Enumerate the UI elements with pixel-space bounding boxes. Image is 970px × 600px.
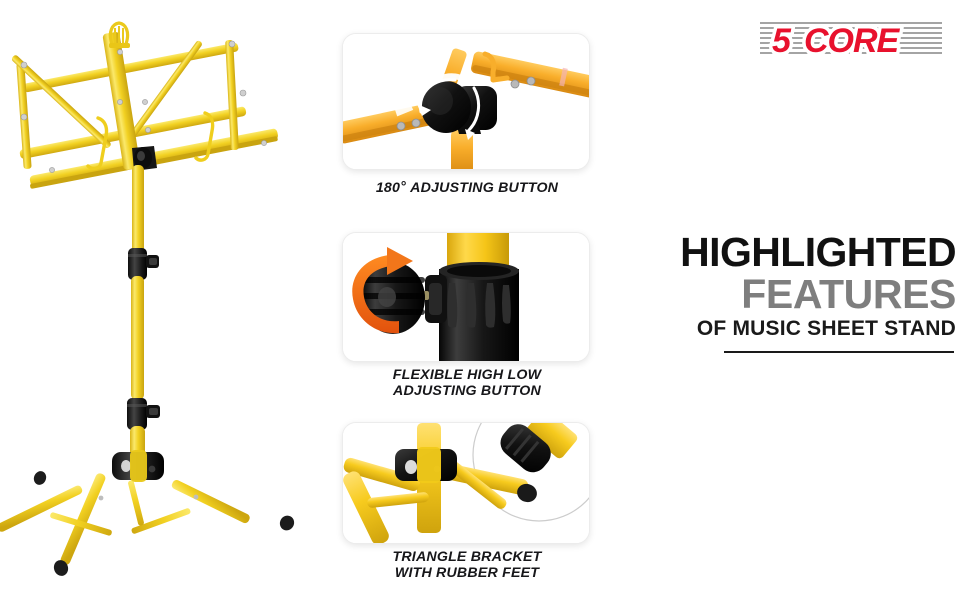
caption-line-2: ADJUSTING BUTTON [336,383,598,399]
logo-word-core: CORE [804,22,901,60]
headline-underline-rule [724,351,954,353]
triangle-bracket-hub [395,447,457,483]
headline-secondary: FEATURES [612,273,956,316]
feature-caption-flexible-high-low: FLEXIBLE HIGH LOW ADJUSTING BUTTON [336,367,598,399]
caption-main-text: ADJUSTING BUTTON [410,180,558,196]
tripod-hub [112,450,164,482]
tripod-leg-right [170,479,296,533]
logo-number-5: 5 [772,22,792,60]
caption-line-1: TRIANGLE BRACKET [336,549,598,565]
black-outer-collar [439,262,519,361]
feature-card-triangle-bracket[interactable] [342,422,590,544]
feature-cards-column: 180° ADJUSTING BUTTON [336,0,598,600]
caption-degree-value: 180 [376,180,400,196]
feature-caption-triangle-bracket: TRIANGLE BRACKET WITH RUBBER FEET [336,549,598,581]
product-hero-image [0,0,330,600]
detail-photo-flexible-high-low-adjusting-button [343,233,589,361]
headline-subtitle: OF MUSIC SHEET STAND [612,316,956,342]
lower-height-collar [127,398,160,430]
detail-photo-180-adjusting-button [343,34,589,169]
degree-symbol-icon: ° [400,179,406,195]
desk-top-rail [23,42,239,92]
mid-column [131,276,144,400]
feature-caption-180-adjusting-button: 180° ADJUSTING BUTTON [336,180,598,196]
music-sheet-stand-illustration [0,0,330,600]
headline-block: HIGHLIGHTED FEATURES OF MUSIC SHEET STAN… [612,232,956,353]
desk-assembly [11,23,279,189]
tripod-base [0,450,297,578]
desk-right-side [225,40,239,150]
five-core-logo: 5 CORE [760,16,942,62]
caption-line-2: WITH RUBBER FEET [336,565,598,581]
caption-line-1: FLEXIBLE HIGH LOW [336,367,598,383]
five-core-logo-svg: 5 CORE [760,16,942,62]
upper-height-collar [128,248,159,280]
feature-card-flexible-high-low[interactable] [342,232,590,362]
feature-card-180-adjusting-button[interactable] [342,33,590,170]
headline-primary: HIGHLIGHTED [612,232,956,273]
detail-photo-triangle-bracket-rubber-feet [343,423,589,543]
